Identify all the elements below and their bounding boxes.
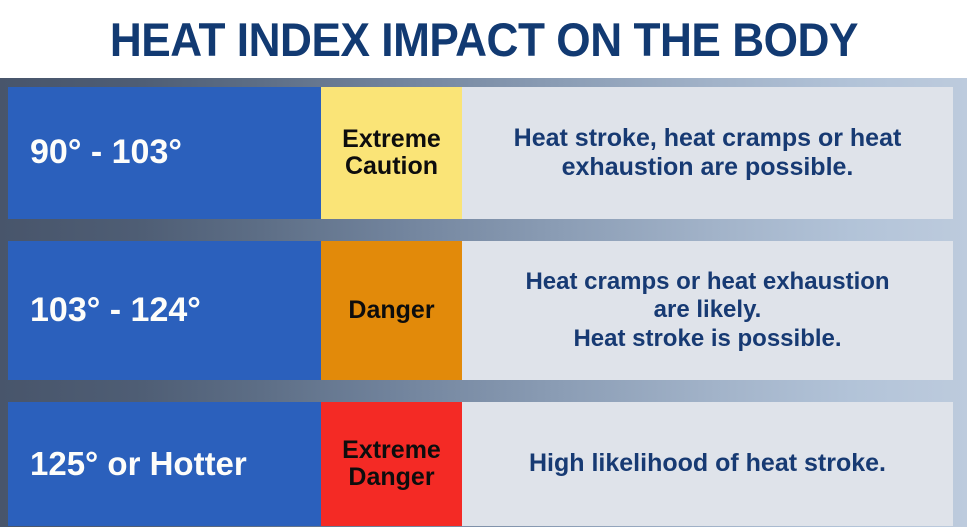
table-row: 90° - 103° Extreme Caution Heat stroke, … (8, 87, 953, 219)
temperature-range-label: 103° - 124° (30, 293, 201, 329)
description-label: Heat cramps or heat exhaustion are likel… (525, 268, 889, 353)
description-cell: Heat cramps or heat exhaustion are likel… (462, 241, 953, 380)
description-cell: Heat stroke, heat cramps or heat exhaust… (462, 87, 953, 219)
row-divider (8, 380, 953, 402)
table-row: 125° or Hotter Extreme Danger High likel… (8, 402, 953, 526)
description-label: High likelihood of heat stroke. (529, 449, 886, 479)
temperature-range-label: 90° - 103° (30, 135, 182, 171)
risk-level-cell-extreme-danger: Extreme Danger (321, 402, 462, 526)
temperature-cell: 103° - 124° (8, 241, 321, 380)
heat-index-table: 90° - 103° Extreme Caution Heat stroke, … (0, 78, 967, 527)
description-cell: High likelihood of heat stroke. (462, 402, 953, 526)
risk-level-label: Danger (348, 297, 434, 324)
title-banner: HEAT INDEX IMPACT ON THE BODY (0, 0, 967, 78)
heat-index-infographic: HEAT INDEX IMPACT ON THE BODY 90° - 103°… (0, 0, 967, 527)
risk-level-cell-danger: Danger (321, 241, 462, 380)
temperature-cell: 90° - 103° (8, 87, 321, 219)
page-title: HEAT INDEX IMPACT ON THE BODY (109, 16, 857, 63)
risk-level-label: Extreme Danger (342, 437, 441, 491)
description-label: Heat stroke, heat cramps or heat exhaust… (514, 124, 902, 183)
risk-level-label: Extreme Caution (342, 126, 441, 180)
temperature-range-label: 125° or Hotter (30, 447, 247, 482)
temperature-cell: 125° or Hotter (8, 402, 321, 526)
table-row: 103° - 124° Danger Heat cramps or heat e… (8, 241, 953, 380)
risk-level-cell-extreme-caution: Extreme Caution (321, 87, 462, 219)
row-divider (8, 219, 953, 241)
